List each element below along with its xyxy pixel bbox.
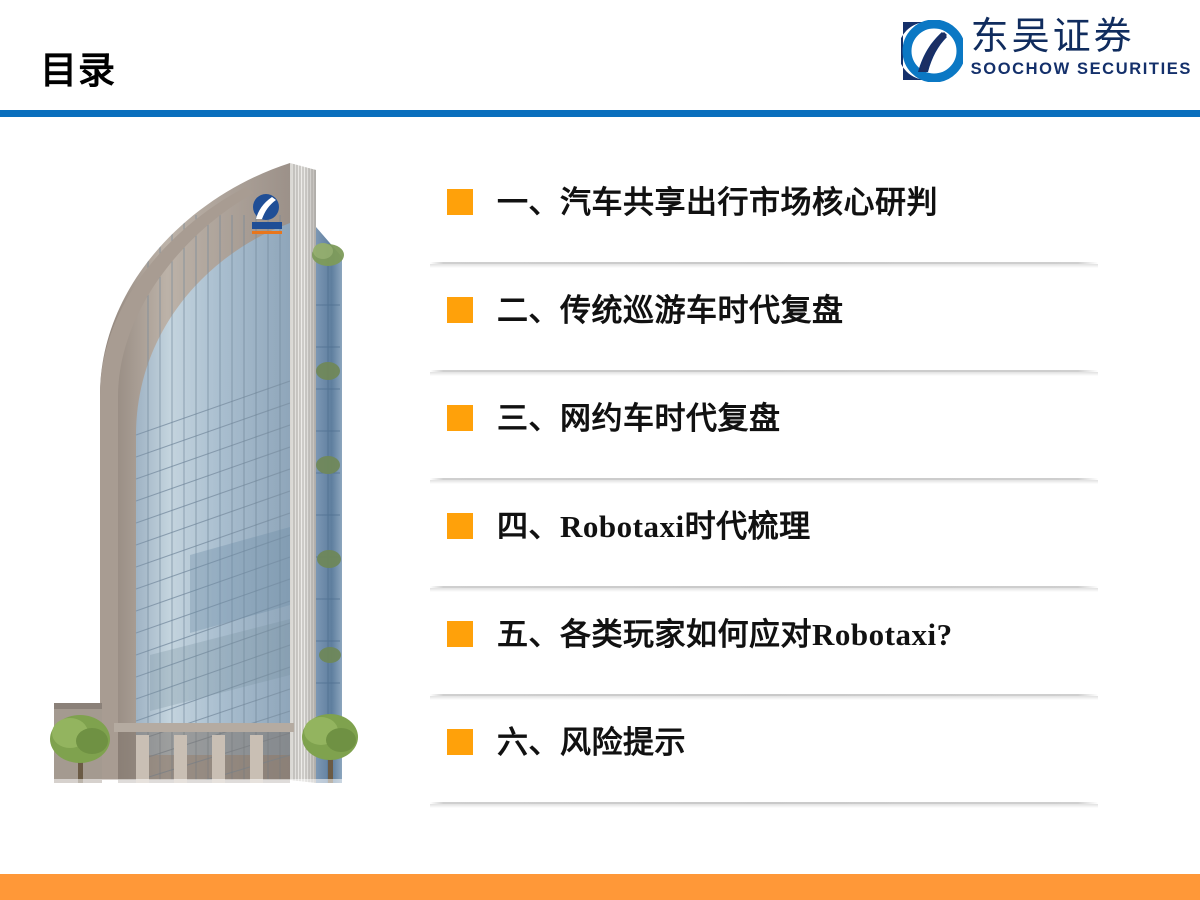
- brand-logo: 东吴证券 SOOCHOW SECURITIES: [901, 18, 1192, 92]
- agenda-item-6[interactable]: 六、风险提示: [430, 720, 686, 764]
- agenda-item-label: 二、传统巡游车时代复盘: [497, 295, 844, 326]
- footer-accent-bar: [0, 874, 1200, 900]
- page-title: 目录: [40, 52, 116, 89]
- agenda-item-1[interactable]: 一、汽车共享出行市场核心研判: [430, 180, 938, 224]
- brand-name-cn: 东吴证券: [971, 18, 1192, 58]
- building-illustration: [40, 135, 370, 815]
- agenda-row[interactable]: 六、风险提示: [430, 700, 1100, 808]
- agenda-divider: [430, 802, 1098, 808]
- agenda-item-label: 三、网约车时代复盘: [497, 403, 781, 434]
- bullet-square-icon: [447, 189, 473, 215]
- agenda-row[interactable]: 三、网约车时代复盘: [430, 376, 1100, 484]
- agenda-item-label: 一、汽车共享出行市场核心研判: [497, 187, 938, 218]
- bullet-square-icon: [447, 729, 473, 755]
- agenda-item-2[interactable]: 二、传统巡游车时代复盘: [430, 288, 844, 332]
- agenda-item-3[interactable]: 三、网约车时代复盘: [430, 396, 781, 440]
- agenda-item-label: 四、Robotaxi时代梳理: [497, 511, 811, 542]
- brand-name-en: SOOCHOW SECURITIES: [971, 61, 1192, 78]
- agenda-item-5[interactable]: 五、各类玩家如何应对Robotaxi?: [430, 612, 953, 656]
- agenda-row[interactable]: 四、Robotaxi时代梳理: [430, 484, 1100, 592]
- agenda-row[interactable]: 一、汽车共享出行市场核心研判: [430, 160, 1100, 268]
- bullet-square-icon: [447, 513, 473, 539]
- bullet-square-icon: [447, 621, 473, 647]
- agenda-item-label: 六、风险提示: [497, 727, 686, 758]
- slide-root: 目录 东吴证券 SOOCHOW SECURITIES: [0, 0, 1200, 900]
- agenda-item-4[interactable]: 四、Robotaxi时代梳理: [430, 504, 811, 548]
- agenda-item-label: 五、各类玩家如何应对Robotaxi?: [497, 619, 953, 650]
- soochow-s-mark-icon: [901, 20, 963, 82]
- headquarters-building-image: [40, 135, 370, 815]
- agenda-list: 一、汽车共享出行市场核心研判 二、传统巡游车时代复盘 三、网约车时代复盘: [430, 160, 1100, 808]
- bullet-square-icon: [447, 405, 473, 431]
- brand-text: 东吴证券 SOOCHOW SECURITIES: [971, 18, 1192, 77]
- bullet-square-icon: [447, 297, 473, 323]
- header-divider: [0, 110, 1200, 117]
- agenda-row[interactable]: 二、传统巡游车时代复盘: [430, 268, 1100, 376]
- agenda-row[interactable]: 五、各类玩家如何应对Robotaxi?: [430, 592, 1100, 700]
